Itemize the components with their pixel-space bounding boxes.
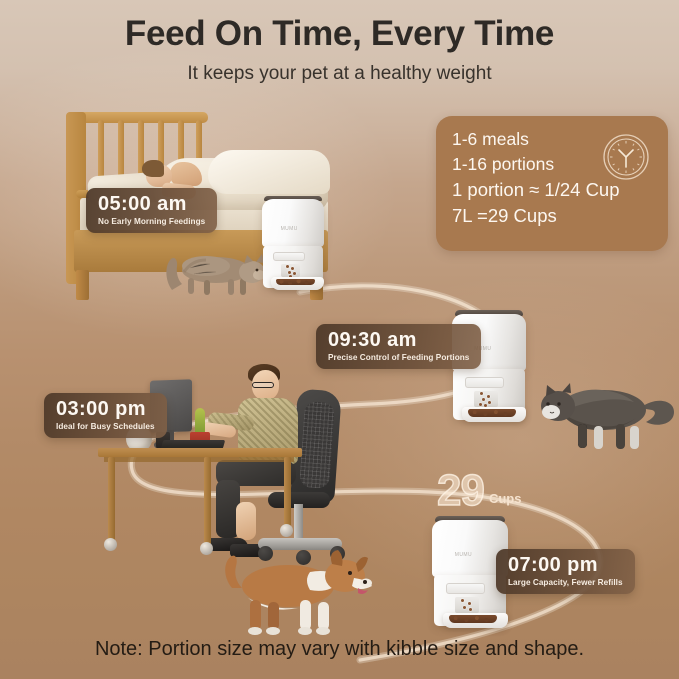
time-badge-afternoon: 03:00 pm Ideal for Busy Schedules [44, 393, 167, 438]
desk-caster [280, 524, 293, 537]
time-badge-midmorning: 09:30 am Precise Control of Feeding Port… [316, 324, 481, 369]
office-chair-mesh [299, 401, 335, 489]
badge-time: 09:30 am [328, 330, 469, 350]
desk-leg [284, 457, 291, 527]
kibble-in-bowl [468, 409, 515, 417]
page-subtitle: It keeps your pet at a healthy weight [0, 63, 679, 85]
time-badge-evening: 07:00 pm Large Capacity, Fewer Refills [496, 549, 635, 594]
badge-caption: Large Capacity, Fewer Refills [508, 578, 623, 587]
sleeping-person-hair [142, 160, 164, 177]
person-calf [236, 502, 256, 540]
badge-caption: No Early Morning Feedings [98, 217, 205, 226]
kibble-in-bowl [276, 279, 316, 285]
plant [195, 408, 205, 434]
office-chair-post [294, 504, 303, 540]
clock-icon [602, 133, 650, 181]
desk-leg [108, 457, 115, 541]
bed-headboard-top [66, 112, 208, 123]
badge-caption: Precise Control of Feeding Portions [328, 353, 469, 362]
feeder-control-panel[interactable] [273, 252, 305, 261]
page-title: Feed On Time, Every Time [0, 14, 679, 53]
desk-leg [204, 457, 211, 545]
spec-line-capacity: 7L =29 Cups [452, 203, 654, 229]
desk-apron [104, 457, 294, 462]
badge-time: 03:00 pm [56, 399, 155, 419]
feeder-hopper [262, 199, 324, 247]
capacity-unit: Cups [489, 491, 522, 506]
desk-caster [104, 538, 117, 551]
feeder-control-panel[interactable] [465, 377, 503, 388]
time-badge-morning: 05:00 am No Early Morning Feedings [86, 188, 217, 233]
capacity-callout: 29 Cups [437, 472, 521, 510]
bed-leg [76, 270, 89, 300]
badge-time: 05:00 am [98, 194, 205, 214]
badge-time: 07:00 pm [508, 555, 623, 575]
spec-card: 1-6 meals 1-16 portions 1 portion ≈ 1/24… [436, 116, 668, 251]
desk-top [98, 448, 302, 457]
feeder-control-panel[interactable] [446, 583, 486, 594]
kibble-in-bowl [449, 615, 498, 623]
footer-note: Note: Portion size may vary with kibble … [0, 638, 679, 661]
cat-longhair [536, 372, 678, 458]
cat-tabby [160, 244, 272, 298]
glasses-icon [252, 382, 274, 388]
duvet-fold [208, 150, 330, 194]
feeder-bedroom: MUMU [262, 196, 324, 288]
badge-caption: Ideal for Busy Schedules [56, 422, 155, 431]
promo-image: Feed On Time, Every Time It keeps your p… [0, 0, 679, 679]
header: Feed On Time, Every Time It keeps your p… [0, 14, 679, 85]
capacity-number: 29 [437, 472, 484, 510]
feeder-brand-label: MUMU [281, 226, 298, 232]
feeder-brand-label: MUMU [455, 552, 472, 558]
desk-caster [200, 542, 213, 555]
dog-boxer [214, 542, 378, 638]
